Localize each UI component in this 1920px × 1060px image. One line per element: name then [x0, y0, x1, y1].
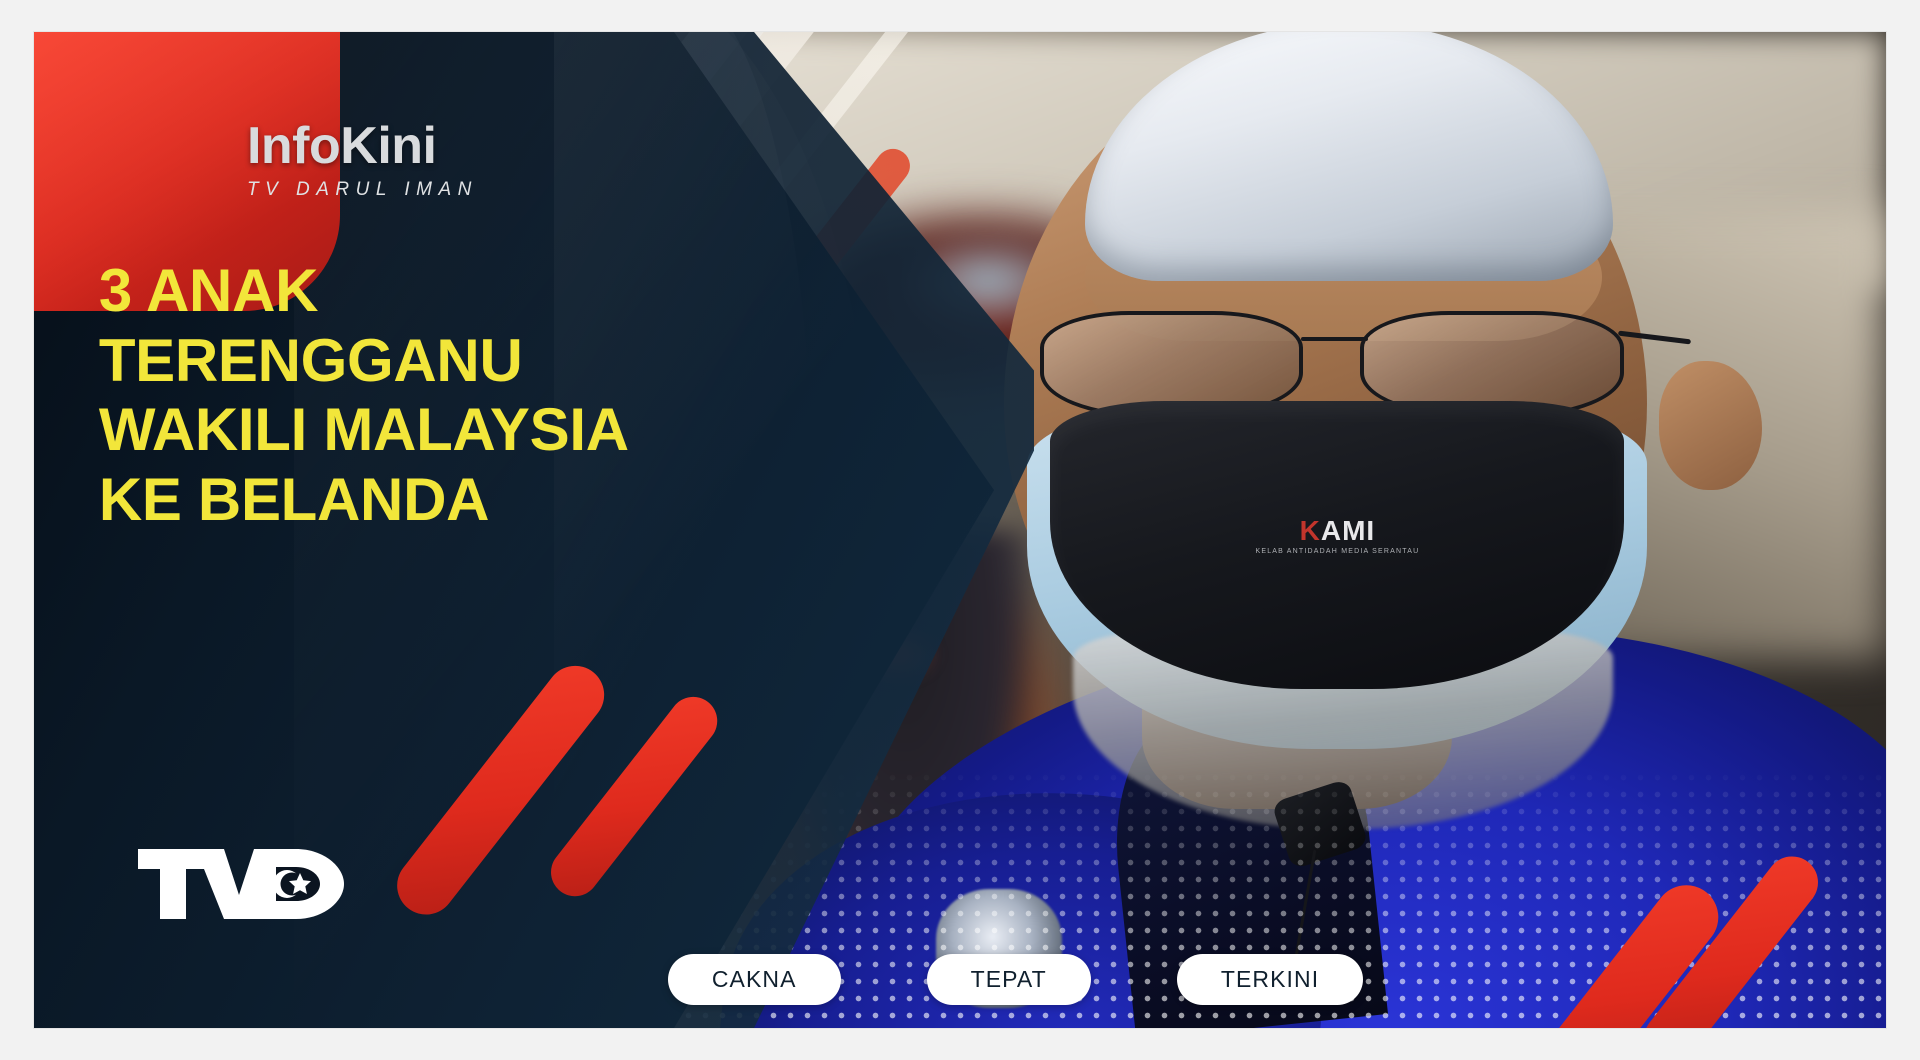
glasses-temple — [1618, 330, 1691, 344]
headline-line-3: WAKILI MALAYSIA — [99, 395, 932, 465]
mask-brand-rest: AMI — [1321, 515, 1375, 546]
pill-cakna[interactable]: CAKNA — [668, 954, 841, 1005]
mask-brand-name: KAMI — [1255, 517, 1419, 545]
screenshot-canvas: KAMI KELAB ANTIDADAH MEDIA SERANTAU — [0, 0, 1920, 1060]
mask-brand-print: KAMI KELAB ANTIDADAH MEDIA SERANTAU — [1255, 517, 1419, 555]
channel-brand-block: InfoKini TV DARUL IMAN — [247, 120, 478, 201]
mask-brand-tagline: KELAB ANTIDADAH MEDIA SERANTAU — [1255, 548, 1419, 555]
pill-tepat[interactable]: TEPAT — [927, 954, 1091, 1005]
mask-brand-initial: K — [1300, 515, 1321, 546]
tvd-logo-svg — [136, 845, 346, 923]
brand-subtitle: TV DARUL IMAN — [247, 179, 478, 201]
headline-line-2: TERENGGANU — [99, 326, 932, 396]
subject-ear — [1659, 361, 1762, 490]
subject-white-kopiah — [1085, 32, 1613, 281]
tvd-logo — [136, 845, 346, 923]
subject-eyeglasses — [1027, 311, 1636, 411]
glasses-bridge — [1301, 337, 1368, 341]
subject-black-face-mask: KAMI KELAB ANTIDADAH MEDIA SERANTAU — [1050, 401, 1624, 690]
brand-title: InfoKini — [247, 120, 478, 172]
news-thumbnail-card: KAMI KELAB ANTIDADAH MEDIA SERANTAU — [34, 32, 1886, 1028]
headline-text: 3 ANAK TERENGGANU WAKILI MALAYSIA KE BEL… — [99, 256, 932, 534]
headline-line-1: 3 ANAK — [99, 256, 932, 326]
tagline-pill-row: CAKNA TEPAT TERKINI — [34, 954, 1886, 1005]
headline-line-4: KE BELANDA — [99, 465, 932, 535]
pill-terkini[interactable]: TERKINI — [1177, 954, 1363, 1005]
